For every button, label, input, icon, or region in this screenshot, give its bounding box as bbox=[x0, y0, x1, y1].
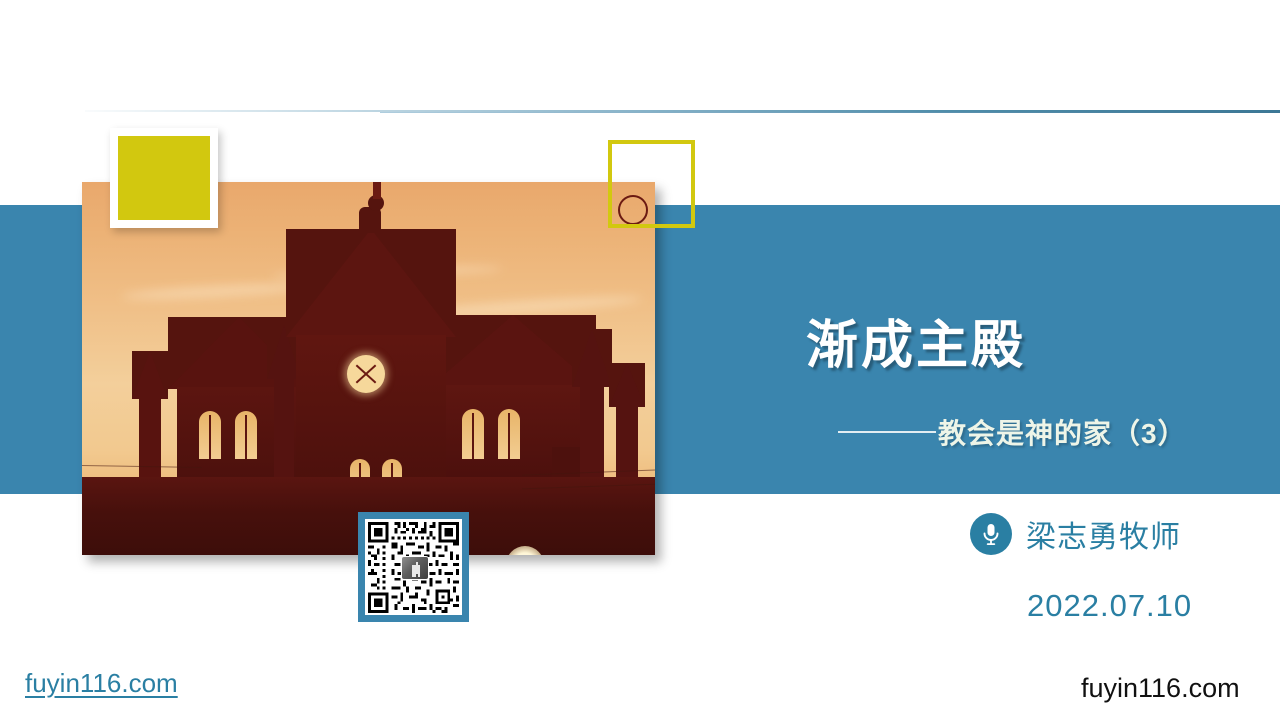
top-divider-line-secondary bbox=[380, 112, 1280, 113]
turret-spire-left bbox=[132, 351, 168, 399]
church-silhouette bbox=[82, 182, 655, 555]
microphone-icon bbox=[970, 513, 1012, 555]
page-subtitle: 教会是神的家（3） bbox=[938, 412, 1187, 452]
subtitle-dash bbox=[838, 431, 936, 433]
qr-center-logo bbox=[401, 556, 429, 580]
steeple-base bbox=[359, 207, 381, 233]
qr-code-matrix bbox=[365, 519, 462, 615]
footer-watermark: fuyin116.com bbox=[1081, 673, 1240, 704]
church-sunset-photo bbox=[82, 182, 655, 555]
turret-spire-far-right bbox=[609, 363, 645, 407]
arched-window bbox=[235, 411, 257, 459]
page-title: 渐成主殿 bbox=[806, 303, 1026, 378]
decorative-yellow-square-filled bbox=[110, 128, 218, 228]
presentation-slide: 渐成主殿 教会是神的家（3） 梁志勇牧师 2022.07.10 fuyin116… bbox=[0, 0, 1280, 720]
roof-gable-main bbox=[286, 229, 456, 337]
subtitle-row: 教会是神的家（3） bbox=[838, 412, 1187, 452]
decorative-yellow-square-outline bbox=[608, 140, 695, 228]
arched-window bbox=[462, 409, 484, 459]
footer-website-link[interactable]: fuyin116.com bbox=[25, 668, 178, 699]
slide-date: 2022.07.10 bbox=[1027, 588, 1192, 624]
speaker-row: 梁志勇牧师 bbox=[970, 512, 1181, 556]
cross-icon bbox=[373, 182, 381, 199]
arched-window bbox=[498, 409, 520, 459]
speaker-name: 梁志勇牧师 bbox=[1026, 512, 1181, 556]
turret-spire-right bbox=[572, 329, 612, 387]
arched-window bbox=[199, 411, 221, 459]
qr-code-icon[interactable] bbox=[358, 512, 469, 622]
